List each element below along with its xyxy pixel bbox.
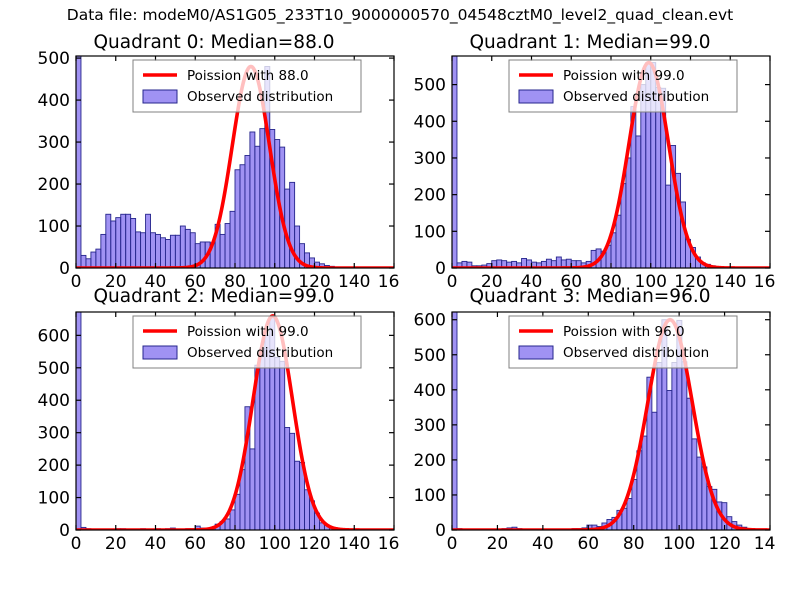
subplot-quadrant-0: Quadrant 0: Median=88.0 0204060801001201… <box>28 32 400 294</box>
x-tick-label: 40 <box>532 534 554 554</box>
y-tick-label: 600 <box>38 326 70 346</box>
legend-swatch-observed <box>519 346 553 359</box>
legend-label-observed: Observed distribution <box>563 89 709 105</box>
y-tick-label: 600 <box>414 311 446 331</box>
x-tick-label: 20 <box>487 534 509 554</box>
y-tick-label: 0 <box>435 259 446 279</box>
figure-canvas: Data file: modeM0/AS1G05_233T10_90000005… <box>0 0 800 600</box>
y-tick-label: 500 <box>38 359 70 379</box>
x-tick-label: 100 <box>259 534 291 554</box>
legend[interactable]: Poission with 88.0Observed distribution <box>133 60 361 112</box>
x-tick-label: 0 <box>447 534 458 554</box>
y-tick-label: 200 <box>38 456 70 476</box>
legend[interactable]: Poission with 96.0Observed distribution <box>509 316 737 368</box>
chart-area-quadrant-1: 0204060801001201401600100200300400500Poi… <box>404 32 776 294</box>
legend-label-poisson: Poission with 88.0 <box>187 68 309 84</box>
x-tick-label: 60 <box>577 534 599 554</box>
legend-label-observed: Observed distribution <box>187 89 333 105</box>
y-tick-label: 400 <box>38 91 70 111</box>
y-tick-label: 400 <box>414 381 446 401</box>
y-tick-label: 100 <box>414 222 446 242</box>
y-tick-label: 400 <box>414 112 446 132</box>
y-tick-label: 100 <box>414 486 446 506</box>
y-tick-label: 300 <box>414 416 446 436</box>
y-tick-label: 0 <box>59 521 70 541</box>
y-tick-label: 300 <box>414 149 446 169</box>
y-tick-label: 100 <box>38 489 70 509</box>
subplot-quadrant-3: Quadrant 3: Median=96.0 0204060801001201… <box>404 286 776 558</box>
chart-area-quadrant-0: 0204060801001201401600100200300400500Poi… <box>28 32 400 294</box>
chart-area-quadrant-3: 0204060801001201400100200300400500600Poi… <box>404 286 776 558</box>
x-tick-label: 160 <box>378 534 400 554</box>
x-tick-label: 120 <box>708 534 740 554</box>
x-tick-label: 120 <box>298 534 330 554</box>
x-tick-label: 60 <box>184 534 206 554</box>
legend-label-poisson: Poission with 99.0 <box>187 324 309 340</box>
legend-label-poisson: Poission with 96.0 <box>563 324 685 340</box>
y-tick-label: 500 <box>414 346 446 366</box>
y-tick-label: 200 <box>38 175 70 195</box>
legend-swatch-observed <box>519 90 553 103</box>
x-tick-label: 40 <box>145 534 167 554</box>
y-tick-label: 200 <box>414 186 446 206</box>
x-tick-label: 140 <box>338 534 370 554</box>
x-tick-label: 20 <box>105 534 127 554</box>
figure-suptitle: Data file: modeM0/AS1G05_233T10_90000005… <box>0 6 800 24</box>
y-tick-label: 200 <box>414 451 446 471</box>
legend-label-poisson: Poission with 99.0 <box>563 68 685 84</box>
legend-label-observed: Observed distribution <box>563 345 709 361</box>
subplot-quadrant-1: Quadrant 1: Median=99.0 0204060801001201… <box>404 32 776 294</box>
x-tick-label: 80 <box>224 534 246 554</box>
legend-label-observed: Observed distribution <box>187 345 333 361</box>
y-tick-label: 300 <box>38 133 70 153</box>
legend-swatch-observed <box>143 90 177 103</box>
y-tick-label: 0 <box>59 259 70 279</box>
legend[interactable]: Poission with 99.0Observed distribution <box>509 60 737 112</box>
legend-swatch-observed <box>143 346 177 359</box>
chart-area-quadrant-2: 0204060801001201401600100200300400500600… <box>28 286 400 558</box>
x-tick-label: 80 <box>623 534 645 554</box>
x-tick-label: 0 <box>71 534 82 554</box>
y-tick-label: 500 <box>414 76 446 96</box>
legend[interactable]: Poission with 99.0Observed distribution <box>133 316 361 368</box>
y-tick-label: 400 <box>38 391 70 411</box>
y-tick-label: 500 <box>38 49 70 69</box>
x-tick-label: 140 <box>754 534 776 554</box>
y-tick-label: 300 <box>38 424 70 444</box>
y-tick-label: 100 <box>38 217 70 237</box>
y-tick-label: 0 <box>435 521 446 541</box>
subplot-quadrant-2: Quadrant 2: Median=99.0 0204060801001201… <box>28 286 400 558</box>
x-tick-label: 100 <box>663 534 695 554</box>
